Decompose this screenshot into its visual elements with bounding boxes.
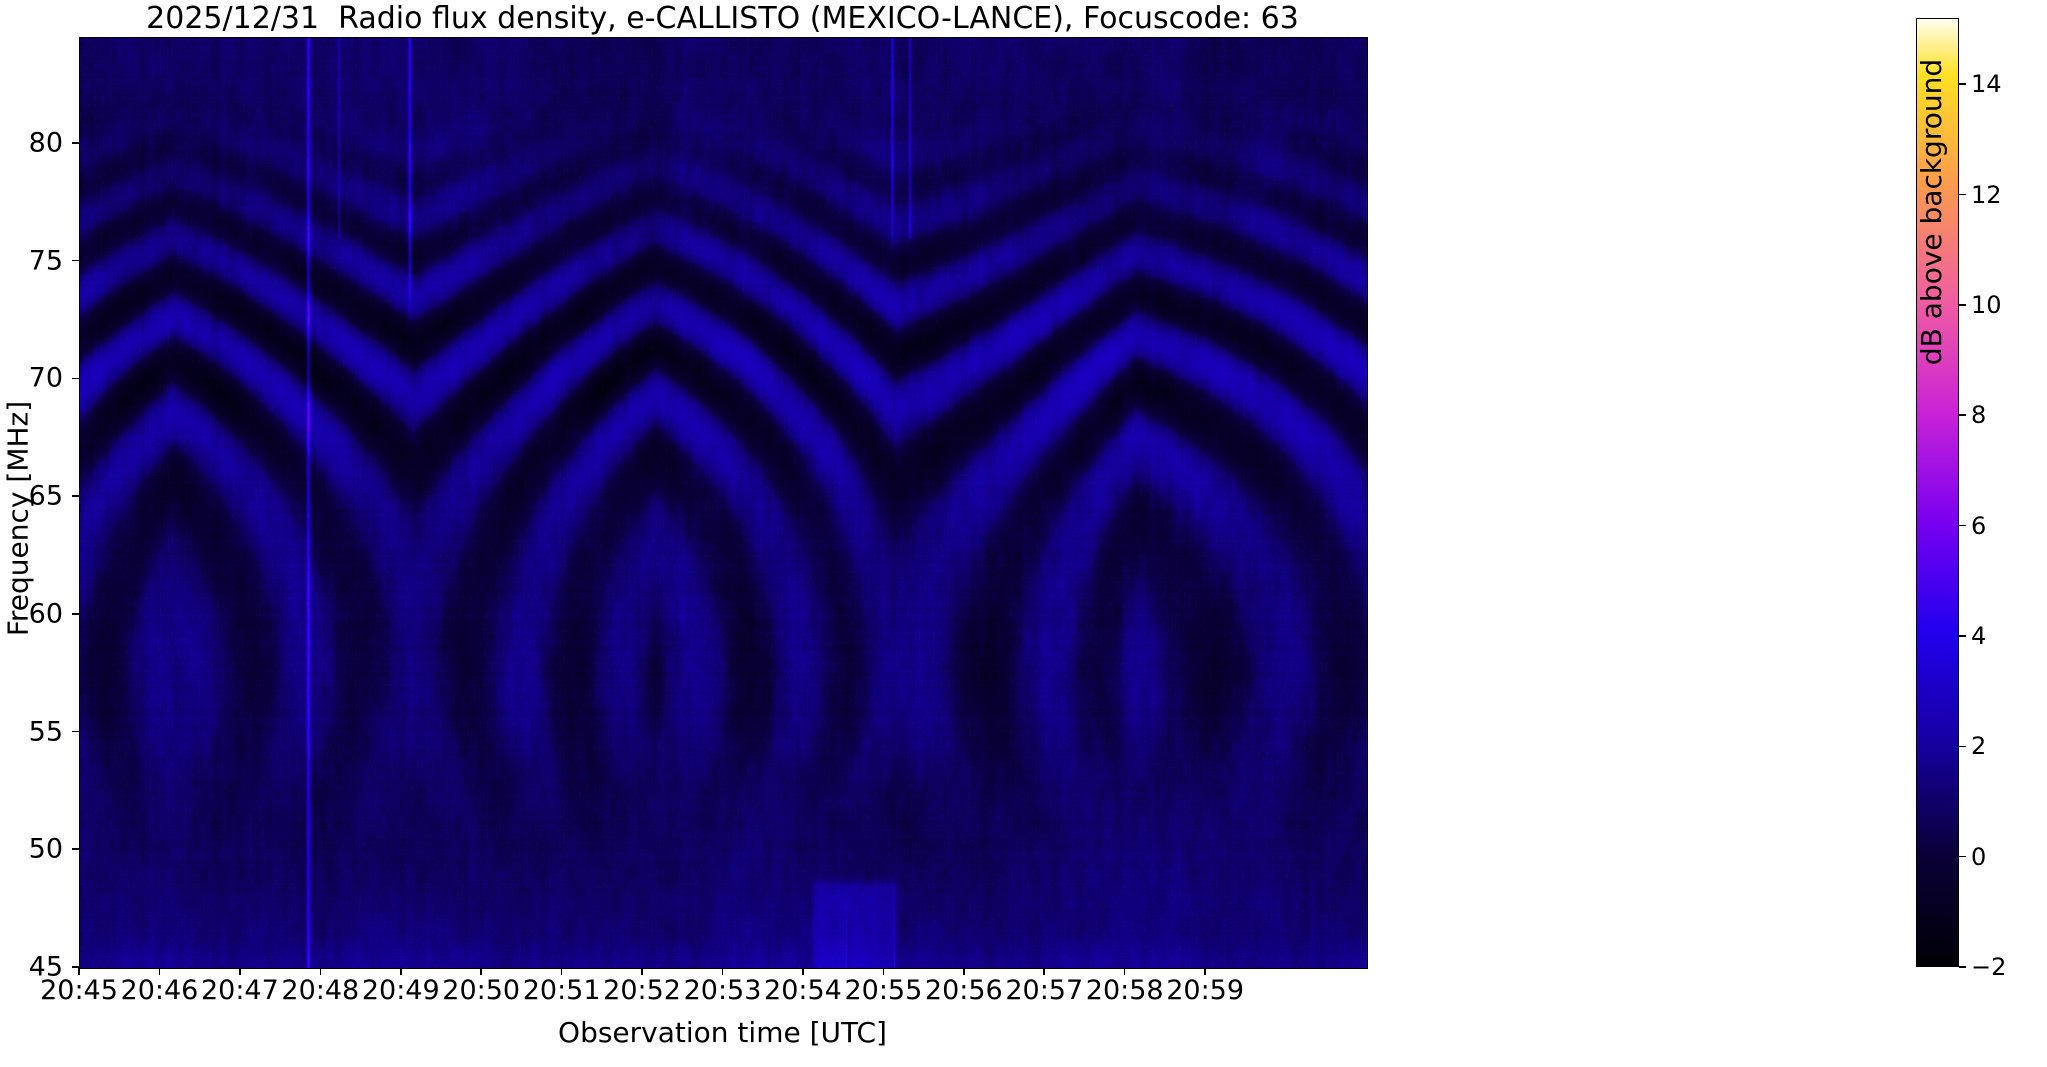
colorbar-tick-mark [1959, 414, 1966, 416]
colorbar-tick-label: 6 [1971, 512, 1986, 540]
x-tick-mark [722, 968, 724, 975]
x-tick-label: 20:48 [281, 975, 359, 1006]
x-tick-mark [400, 968, 402, 975]
x-tick-mark [78, 968, 80, 975]
colorbar-tick-label: 4 [1971, 622, 1986, 650]
x-tick-mark [561, 968, 563, 975]
x-tick-label: 20:57 [1005, 975, 1083, 1006]
x-tick-mark [159, 968, 161, 975]
x-tick-label: 20:45 [40, 975, 118, 1006]
colorbar-tick-label: 14 [1971, 70, 2002, 98]
x-tick-mark [1204, 968, 1206, 975]
colorbar-tick-mark [1959, 194, 1966, 196]
y-tick-mark [72, 260, 79, 262]
x-tick-label: 20:47 [201, 975, 279, 1006]
y-tick-label: 65 [1, 481, 63, 512]
colorbar-tick-mark [1959, 525, 1966, 527]
y-tick-label: 70 [1, 363, 63, 394]
y-tick-mark [72, 848, 79, 850]
colorbar-tick-mark [1959, 856, 1966, 858]
colorbar-tick-mark [1959, 304, 1966, 306]
colorbar-tick-mark [1959, 83, 1966, 85]
colorbar-label: dB above background [1915, 0, 1948, 492]
x-tick-mark [320, 968, 322, 975]
x-tick-label: 20:51 [523, 975, 601, 1006]
colorbar-tick-label: 8 [1971, 401, 1986, 429]
colorbar-tick-mark [1959, 966, 1966, 968]
x-tick-mark [1124, 968, 1126, 975]
x-tick-label: 20:46 [121, 975, 199, 1006]
colorbar-tick-mark [1959, 746, 1966, 748]
colorbar-tick-label: −2 [1971, 953, 2006, 981]
x-tick-label: 20:56 [925, 975, 1003, 1006]
x-tick-label: 20:55 [844, 975, 922, 1006]
colorbar-tick-label: 2 [1971, 732, 1986, 760]
x-tick-mark [239, 968, 241, 975]
x-tick-mark [1043, 968, 1045, 975]
x-tick-label: 20:49 [362, 975, 440, 1006]
colorbar-tick-mark [1959, 635, 1966, 637]
page-title: 2025/12/31 Radio flux density, e-CALLIST… [79, 2, 1366, 36]
spectrogram-figure: 2025/12/31 Radio flux density, e-CALLIST… [0, 0, 2047, 1067]
spectrogram-plot-area[interactable] [79, 37, 1368, 969]
x-tick-label: 20:58 [1086, 975, 1164, 1006]
x-tick-label: 20:59 [1166, 975, 1244, 1006]
y-tick-label: 80 [1, 127, 63, 158]
y-tick-label: 60 [1, 598, 63, 629]
spectrogram-image [80, 38, 1367, 968]
y-tick-mark [72, 378, 79, 380]
y-tick-label: 75 [1, 245, 63, 276]
colorbar-tick-label: 10 [1971, 291, 2002, 319]
x-tick-label: 20:50 [442, 975, 520, 1006]
y-tick-mark [72, 613, 79, 615]
x-tick-mark [883, 968, 885, 975]
y-tick-label: 55 [1, 716, 63, 747]
y-tick-label: 50 [1, 834, 63, 865]
x-tick-mark [963, 968, 965, 975]
x-axis-label: Observation time [UTC] [79, 1016, 1366, 1049]
y-tick-mark [72, 495, 79, 497]
y-tick-mark [72, 142, 79, 144]
colorbar-tick-label: 12 [1971, 181, 2002, 209]
colorbar-tick-label: 0 [1971, 843, 1986, 871]
y-tick-mark [72, 731, 79, 733]
x-tick-label: 20:52 [603, 975, 681, 1006]
x-tick-mark [802, 968, 804, 975]
x-tick-mark [641, 968, 643, 975]
x-tick-mark [480, 968, 482, 975]
x-tick-label: 20:54 [764, 975, 842, 1006]
x-tick-label: 20:53 [684, 975, 762, 1006]
